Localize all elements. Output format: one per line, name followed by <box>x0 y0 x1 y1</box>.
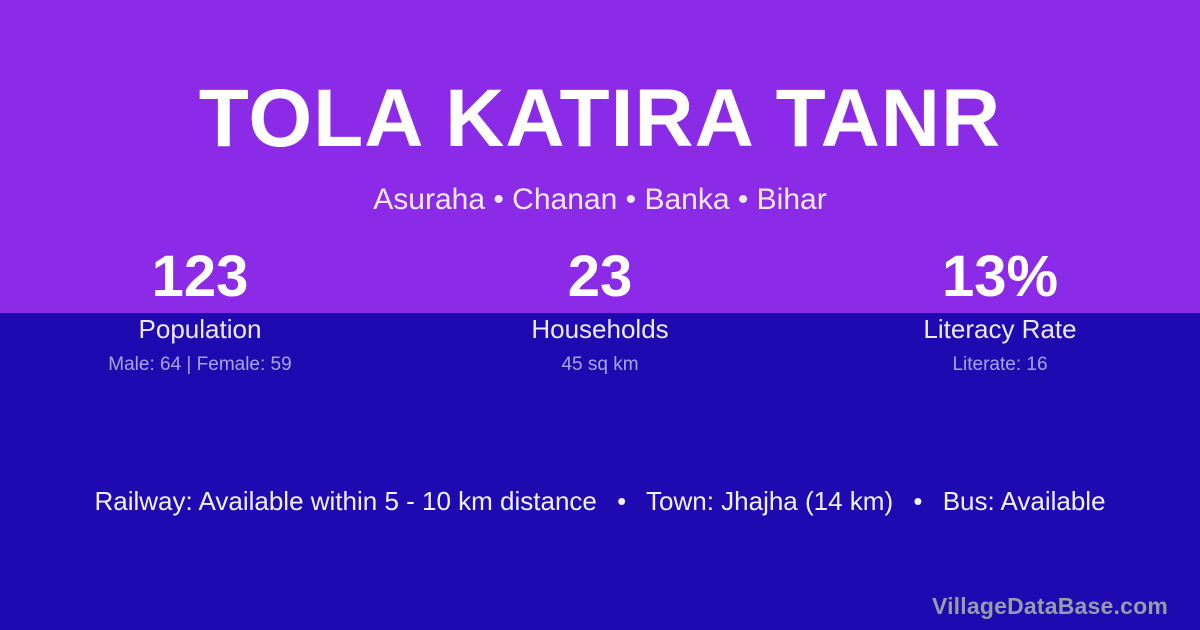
stat-households-detail: 45 sq km <box>400 353 800 377</box>
village-info-card: TOLA KATIRA TANR Asuraha • Chanan • Bank… <box>0 0 1200 630</box>
stat-population-label: Population <box>0 313 400 345</box>
stat-population: 123 Population Male: 64 | Female: 59 <box>0 246 400 377</box>
stat-literacy-rate: 13% Literacy Rate Literate: 16 <box>800 246 1200 377</box>
infra-bus: Bus: Available <box>943 486 1106 516</box>
stat-households: 23 Households 45 sq km <box>400 246 800 377</box>
stat-households-value: 23 <box>400 246 800 308</box>
infra-separator-1: • <box>604 485 639 517</box>
infra-town: Town: Jhajha (14 km) <box>646 486 893 516</box>
stat-population-value: 123 <box>0 246 400 308</box>
page-title: TOLA KATIRA TANR <box>0 78 1200 160</box>
stats-row: 123 Population Male: 64 | Female: 59 23 … <box>0 246 1200 377</box>
brand-watermark: VillageDataBase.com <box>932 592 1168 620</box>
breadcrumb: Asuraha • Chanan • Banka • Bihar <box>0 182 1200 218</box>
stat-households-label: Households <box>400 313 800 345</box>
stat-literacy-rate-label: Literacy Rate <box>800 313 1200 345</box>
stat-literacy-rate-value: 13% <box>800 246 1200 308</box>
stat-population-detail: Male: 64 | Female: 59 <box>0 353 400 377</box>
infrastructure-line: Railway: Available within 5 - 10 km dist… <box>0 485 1200 517</box>
infra-separator-2: • <box>900 485 935 517</box>
stat-literacy-rate-detail: Literate: 16 <box>800 353 1200 377</box>
infra-railway: Railway: Available within 5 - 10 km dist… <box>94 486 596 516</box>
